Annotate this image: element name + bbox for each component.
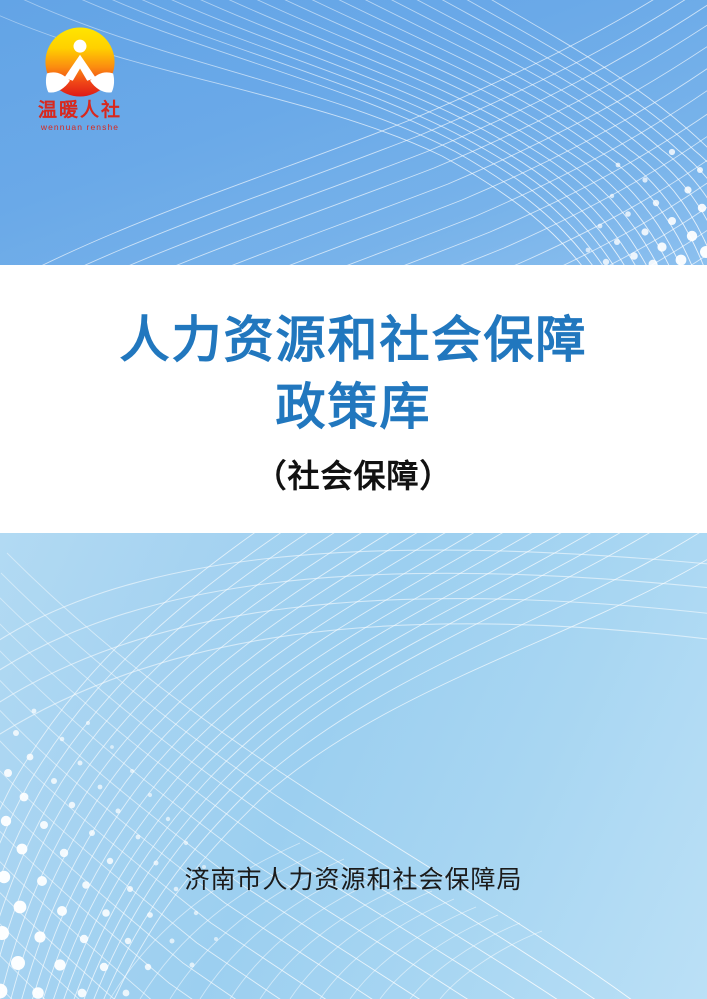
title-band: 人力资源和社会保障 政策库 （社会保障） [0,265,707,533]
top-decorative-band: 温暖人社 wennuan renshe [0,0,707,265]
bottom-decorative-band [0,533,707,999]
title-block: 人力资源和社会保障 政策库 （社会保障） [0,303,707,495]
page-subtitle: （社会保障） [0,457,707,495]
logo-chinese-text: 温暖人社 [30,100,130,122]
footer-organization: 济南市人力资源和社会保障局 [0,860,707,896]
logo-pinyin-text: wennuan renshe [30,122,130,133]
bottom-mesh-pattern [0,533,707,999]
logo: 温暖人社 wennuan renshe [30,26,130,133]
wennuan-renshe-mark-icon [44,26,116,98]
page-title-line-1: 人力资源和社会保障 [0,307,707,374]
page-title-line-2: 政策库 [0,374,707,441]
cover-page: 温暖人社 wennuan renshe 人力资源和社会保障 政策库 （社会保障） [0,0,707,999]
